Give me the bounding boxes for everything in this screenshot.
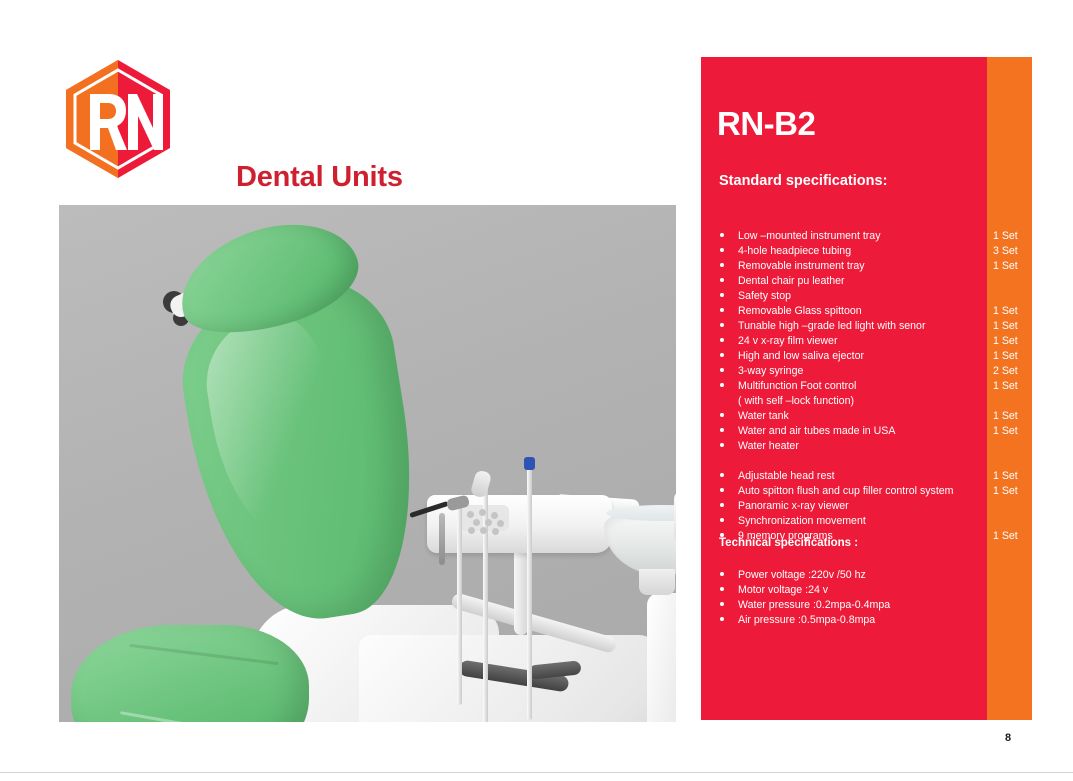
spec-list-item: Multifunction Foot control1 Set <box>701 379 1032 394</box>
spec-item-label: Power voltage :220v /50 hz <box>738 568 866 583</box>
brand-header: Dental Units <box>60 56 480 182</box>
cup-filler-unit <box>674 491 676 543</box>
spec-list-item: 4-hole headpiece tubing3 Set <box>701 244 1032 259</box>
bullet-icon <box>720 473 724 477</box>
spec-item-label: High and low saliva ejector <box>738 349 864 364</box>
technical-specifications-heading: Technical specifications : <box>719 537 858 549</box>
unit-post <box>647 593 676 722</box>
spec-list-item: 3-way syringe2 Set <box>701 364 1032 379</box>
bullet-icon <box>720 248 724 252</box>
tray-perforation <box>492 528 499 535</box>
spec-item-quantity: 1 Set <box>993 424 1018 439</box>
bullet-icon <box>720 572 724 576</box>
page-bottom-divider <box>0 772 1073 773</box>
spec-item-label: Air pressure :0.5mpa-0.8mpa <box>738 613 875 628</box>
bullet-icon <box>720 488 724 492</box>
syringe-tip-icon <box>524 457 535 470</box>
technical-specifications-list: Power voltage :220v /50 hzMotor voltage … <box>701 568 1032 628</box>
spec-list-item: Low –mounted instrument tray1 Set <box>701 229 1032 244</box>
spec-item-label: Panoramic x-ray viewer <box>738 499 849 514</box>
standard-specifications-heading: Standard specifications: <box>719 173 887 189</box>
specification-panel: RN-B2 Standard specifications: Low –moun… <box>701 57 1032 720</box>
spec-list-item: Dental chair pu leather <box>701 274 1032 289</box>
spec-item-label: Removable instrument tray <box>738 259 865 274</box>
spec-list-item: Adjustable head rest1 Set <box>701 469 1032 484</box>
tray-perforation <box>485 519 492 526</box>
spec-item-quantity: 1 Set <box>993 484 1018 499</box>
dental-chair-photo <box>59 205 676 722</box>
bullet-icon <box>720 338 724 342</box>
spec-list-item: Water pressure :0.2mpa-0.4mpa <box>701 598 1032 613</box>
spec-list-item: Power voltage :220v /50 hz <box>701 568 1032 583</box>
standard-specifications-list: Low –mounted instrument tray1 Set4-hole … <box>701 229 1032 544</box>
spec-item-quantity: 1 Set <box>993 469 1018 484</box>
tray-perforation <box>468 527 475 534</box>
spec-list-item: Water and air tubes made in USA1 Set <box>701 424 1032 439</box>
spec-item-quantity: 1 Set <box>993 409 1018 424</box>
spec-item-label: 4-hole headpiece tubing <box>738 244 851 259</box>
bullet-icon <box>720 428 724 432</box>
bullet-icon <box>720 308 724 312</box>
spec-item-label: Water and air tubes made in USA <box>738 424 895 439</box>
bullet-icon <box>720 383 724 387</box>
spec-list-item: Tunable high –grade led light with senor… <box>701 319 1032 334</box>
spec-item-label: Auto spitton flush and cup filler contro… <box>738 484 954 499</box>
bullet-icon <box>720 278 724 282</box>
spec-item-label: Synchronization movement <box>738 514 866 529</box>
spec-item-label: Adjustable head rest <box>738 469 835 484</box>
spec-list-item: Removable instrument tray1 Set <box>701 259 1032 274</box>
bullet-icon <box>720 368 724 372</box>
spec-item-quantity: 2 Set <box>993 364 1018 379</box>
bullet-icon <box>720 263 724 267</box>
handpiece-tube-3 <box>527 460 532 720</box>
model-name: RN-B2 <box>717 105 815 143</box>
rn-hexagon-logo-icon <box>60 58 176 180</box>
bullet-icon <box>720 413 724 417</box>
spec-list-item: 24 v x-ray film viewer1 Set <box>701 334 1032 349</box>
spec-list-gap <box>701 454 1032 469</box>
spec-item-label: Water heater <box>738 439 799 454</box>
tray-stem <box>514 545 528 635</box>
tray-perforation <box>479 509 486 516</box>
spec-item-label: Motor voltage :24 v <box>738 583 828 598</box>
spec-item-quantity: 1 Set <box>993 529 1018 544</box>
bullet-icon <box>720 518 724 522</box>
spec-list-item: Auto spitton flush and cup filler contro… <box>701 484 1032 499</box>
spec-item-quantity: 1 Set <box>993 319 1018 334</box>
spec-item-label: Tunable high –grade led light with senor <box>738 319 925 334</box>
spec-item-quantity: 1 Set <box>993 229 1018 244</box>
spec-item-label: 24 v x-ray film viewer <box>738 334 837 349</box>
spec-item-quantity: 1 Set <box>993 349 1018 364</box>
page-title: Dental Units <box>236 161 403 194</box>
spec-item-quantity: 1 Set <box>993 379 1018 394</box>
bullet-icon <box>720 323 724 327</box>
bullet-icon <box>720 293 724 297</box>
spec-list-item: Motor voltage :24 v <box>701 583 1032 598</box>
tray-perforation <box>467 511 474 518</box>
bullet-icon <box>720 233 724 237</box>
spec-item-label: Low –mounted instrument tray <box>738 229 881 244</box>
spittoon-neck <box>639 569 675 595</box>
spec-list-item: Panoramic x-ray viewer <box>701 499 1032 514</box>
spec-list-item: Water tank1 Set <box>701 409 1032 424</box>
spec-item-quantity: 1 Set <box>993 334 1018 349</box>
spec-item-label: Water pressure :0.2mpa-0.4mpa <box>738 598 890 613</box>
spec-item-label: Multifunction Foot control <box>738 379 856 394</box>
spec-list-item: Safety stop <box>701 289 1032 304</box>
spec-list-item: ( with self –lock function) <box>701 394 1032 409</box>
tray-perforation <box>491 512 498 519</box>
catalog-page: Dental Units <box>0 0 1073 781</box>
bullet-icon <box>720 443 724 447</box>
bullet-icon <box>720 587 724 591</box>
bullet-icon <box>720 602 724 606</box>
spec-item-label: Dental chair pu leather <box>738 274 845 289</box>
tray-perforation <box>473 519 480 526</box>
tray-perforation <box>497 520 504 527</box>
bullet-icon <box>720 617 724 621</box>
spec-item-quantity: 3 Set <box>993 244 1018 259</box>
spec-item-label: Water tank <box>738 409 789 424</box>
spec-item-quantity: 1 Set <box>993 259 1018 274</box>
instrument-hook-stem <box>439 513 445 565</box>
bullet-icon <box>720 503 724 507</box>
spec-item-quantity: 1 Set <box>993 304 1018 319</box>
page-number: 8 <box>1005 732 1011 744</box>
spec-list-item: Synchronization movement <box>701 514 1032 529</box>
spec-list-item: Air pressure :0.5mpa-0.8mpa <box>701 613 1032 628</box>
spec-list-item: Removable Glass spittoon1 Set <box>701 304 1032 319</box>
spec-item-label: Safety stop <box>738 289 791 304</box>
handpiece-tube-1 <box>457 505 462 705</box>
spec-item-label: Removable Glass spittoon <box>738 304 862 319</box>
spec-list-item: High and low saliva ejector1 Set <box>701 349 1032 364</box>
spec-list-item: Water heater <box>701 439 1032 454</box>
tray-perforation <box>480 527 487 534</box>
spec-item-label: 3-way syringe <box>738 364 803 379</box>
spec-item-label: ( with self –lock function) <box>738 394 854 409</box>
bullet-icon <box>720 353 724 357</box>
